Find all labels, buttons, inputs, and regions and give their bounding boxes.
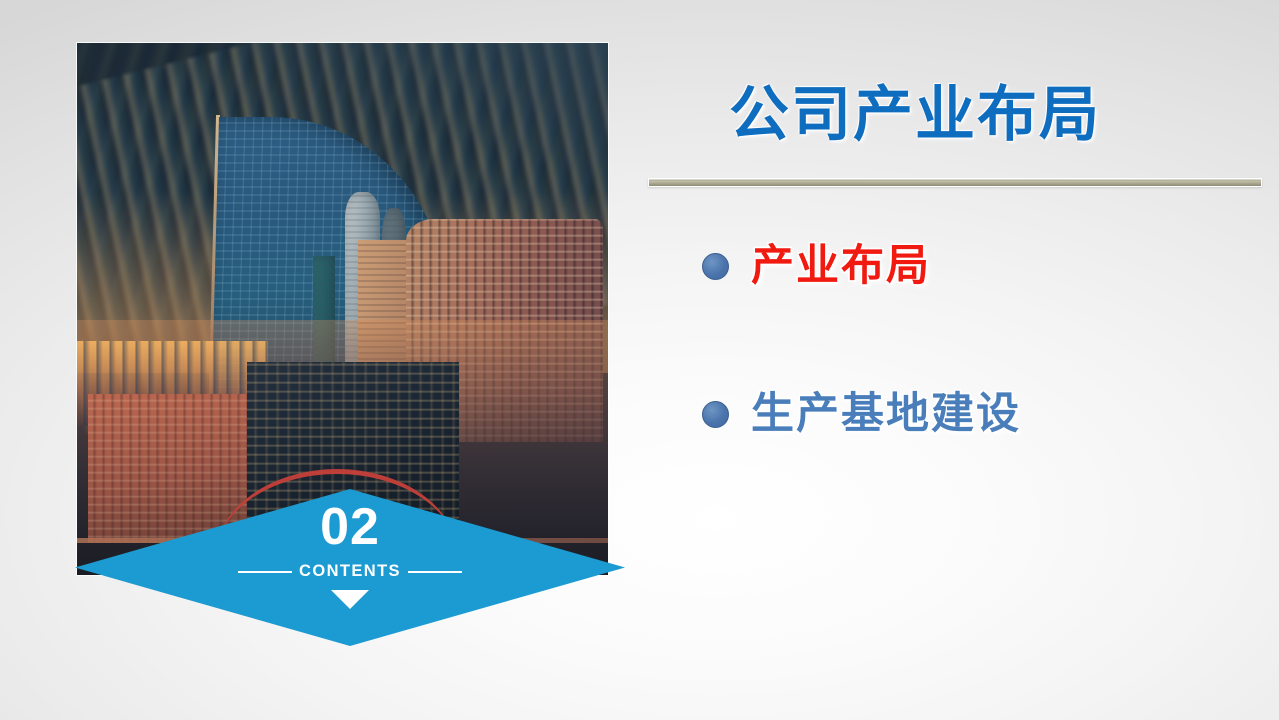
bullet-item-2[interactable]: 生产基地建设 bbox=[702, 391, 1021, 437]
contents-label-row: CONTENTS bbox=[75, 562, 625, 581]
bullet-item-2-label: 生产基地建设 bbox=[751, 391, 1021, 437]
bullet-item-1[interactable]: 产业布局 bbox=[702, 243, 931, 289]
bullet-dot-icon bbox=[702, 401, 729, 428]
title-divider bbox=[648, 178, 1262, 187]
bullet-item-1-label: 产业布局 bbox=[751, 243, 931, 289]
triangle-down-icon bbox=[331, 590, 369, 609]
bullet-dot-icon bbox=[702, 253, 729, 280]
rule-left bbox=[238, 571, 292, 573]
slide-canvas: 02 CONTENTS 公司产业布局 产业布局 生产基地建设 bbox=[0, 0, 1279, 720]
red-apartment-block bbox=[88, 394, 247, 543]
contents-label: CONTENTS bbox=[299, 562, 401, 581]
rule-right bbox=[408, 571, 462, 573]
page-title: 公司产业布局 bbox=[729, 66, 1101, 153]
